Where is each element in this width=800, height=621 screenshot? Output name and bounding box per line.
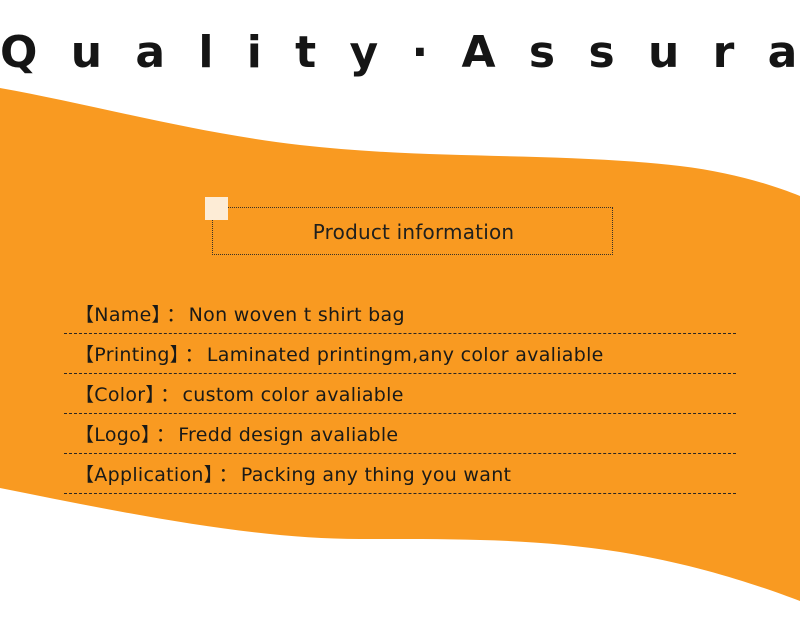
spec-value: custom color avaliable [183,384,404,406]
spec-value: Non woven t shirt bag [189,304,405,326]
spec-line: 【Name】：Non woven t shirt bag [64,300,405,327]
spec-line: 【Application】：Packing any thing you want [64,460,511,487]
spec-separator: ： [155,384,182,406]
spec-key: 【Printing】 [75,344,180,366]
spec-value: Laminated printingm,any color avaliable [207,344,604,366]
list-item: 【Name】：Non woven t shirt bag [64,294,736,334]
product-information-box: Product information [212,207,613,255]
list-item: 【Application】：Packing any thing you want [64,454,736,494]
spec-value: Fredd design avaliable [178,424,398,446]
spec-separator: ： [151,424,178,446]
spec-key: 【Application】 [75,464,214,486]
spec-separator: ： [180,344,207,366]
spec-separator: ： [214,464,241,486]
spec-value: Packing any thing you want [241,464,511,486]
quality-assurance-banner: Q u a l i t y · A s s u r a n c e Produc… [0,0,800,621]
spec-line: 【Logo】：Fredd design avaliable [64,420,398,447]
page-title: Q u a l i t y · A s s u r a n c e [0,27,800,78]
list-item: 【Color】：custom color avaliable [64,374,736,414]
spec-key: 【Color】 [75,384,155,406]
specification-list: 【Name】：Non woven t shirt bag 【Printing】：… [64,294,736,494]
decorative-corner-square [205,197,228,220]
spec-line: 【Printing】：Laminated printingm,any color… [64,340,604,367]
spec-separator: ： [161,304,188,326]
list-item: 【Printing】：Laminated printingm,any color… [64,334,736,374]
spec-key: 【Name】 [75,304,161,326]
spec-key: 【Logo】 [75,424,151,446]
product-information-heading: Product information [213,208,614,256]
list-item: 【Logo】：Fredd design avaliable [64,414,736,454]
spec-line: 【Color】：custom color avaliable [64,380,404,407]
